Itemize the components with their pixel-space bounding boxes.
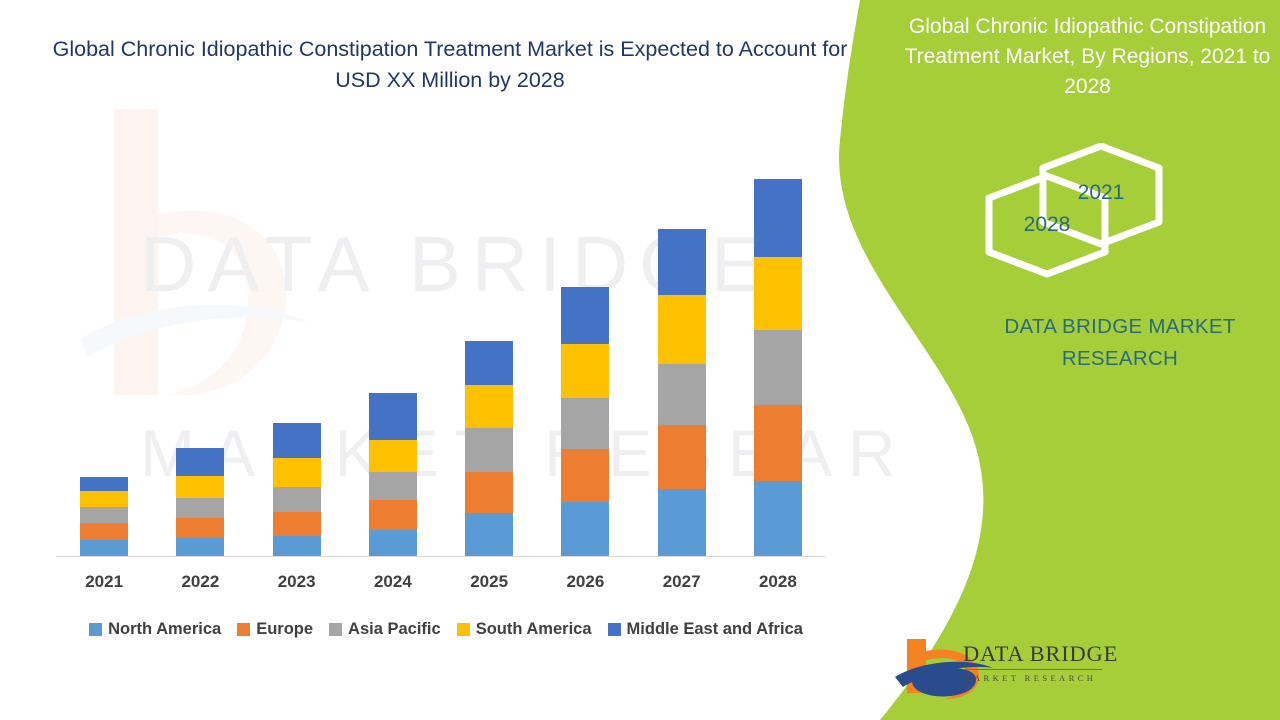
hexagon-outline-icon [985, 143, 1175, 278]
hexagon-label-2021: 2021 [1071, 181, 1131, 205]
bar-segment-middle-east-and-africa [176, 448, 224, 475]
bar-segment-north-america [176, 538, 224, 556]
chart-panel: DATA BRIDGE MARKET RESEARCH Global Chron… [0, 0, 900, 720]
logo-divider [964, 669, 1102, 670]
bar-segment-north-america [658, 489, 706, 556]
bar-segment-middle-east-and-africa [80, 477, 128, 491]
hexagon-group: 2021 2028 [985, 143, 1175, 278]
bar-segment-asia-pacific [369, 472, 417, 500]
bar-segment-south-america [273, 458, 321, 486]
bar-segment-europe [465, 472, 513, 514]
legend-swatch-icon [89, 623, 102, 636]
legend-swatch-icon [457, 623, 470, 636]
bar-segment-north-america [465, 513, 513, 556]
logo-wordmark: DATA BRIDGE MARKET RESEARCH [963, 641, 1113, 683]
legend-item-asia-pacific[interactable]: Asia Pacific [329, 620, 441, 639]
bar-segment-middle-east-and-africa [465, 341, 513, 385]
hexagon-label-2028: 2028 [1017, 213, 1077, 237]
bar-2028 [754, 179, 802, 556]
bar-segment-asia-pacific [465, 428, 513, 472]
bar-2025 [465, 341, 513, 556]
x-tick-2024: 2024 [363, 572, 423, 592]
x-axis-tick-labels: 20212022202320242025202620272028 [56, 572, 826, 598]
bar-segment-north-america [369, 530, 417, 556]
bar-segment-asia-pacific [176, 498, 224, 518]
legend-label: North America [108, 620, 221, 639]
bar-segment-asia-pacific [658, 364, 706, 425]
legend-label: Asia Pacific [348, 620, 441, 639]
stacked-bar-chart [56, 150, 826, 557]
legend-item-north-america[interactable]: North America [89, 620, 221, 639]
x-tick-2023: 2023 [267, 572, 327, 592]
legend-item-south-america[interactable]: South America [457, 620, 592, 639]
bar-segment-south-america [658, 295, 706, 364]
logo-name: DATA BRIDGE [963, 641, 1113, 667]
bar-segment-asia-pacific [561, 398, 609, 449]
brand-panel-title: Global Chronic Idiopathic Constipation T… [895, 12, 1280, 102]
bar-2026 [561, 287, 609, 556]
bar-2022 [176, 448, 224, 556]
bar-segment-europe [658, 425, 706, 489]
x-tick-2028: 2028 [748, 572, 808, 592]
bar-segment-europe [273, 512, 321, 535]
bar-segment-europe [80, 523, 128, 539]
bar-segment-middle-east-and-africa [369, 393, 417, 440]
x-tick-2021: 2021 [74, 572, 134, 592]
bar-segment-south-america [80, 491, 128, 507]
x-tick-2026: 2026 [555, 572, 615, 592]
bar-segment-middle-east-and-africa [658, 229, 706, 294]
legend-swatch-icon [329, 623, 342, 636]
bar-2027 [658, 229, 706, 556]
bar-segment-middle-east-and-africa [561, 287, 609, 344]
legend-swatch-icon [237, 623, 250, 636]
brand-name-text: DATA BRIDGE MARKET RESEARCH [960, 311, 1280, 375]
bar-segment-europe [561, 449, 609, 502]
bar-segment-europe [369, 500, 417, 530]
chart-baseline [56, 556, 826, 557]
bar-segment-north-america [80, 540, 128, 556]
x-tick-2025: 2025 [459, 572, 519, 592]
legend-swatch-icon [608, 623, 621, 636]
bar-segment-south-america [754, 257, 802, 330]
logo-subtitle: MARKET RESEARCH [963, 673, 1113, 683]
bar-segment-asia-pacific [273, 487, 321, 512]
bar-segment-asia-pacific [754, 330, 802, 405]
legend-label: Europe [256, 620, 313, 639]
bar-2024 [369, 393, 417, 556]
bar-segment-europe [754, 405, 802, 480]
bar-segment-north-america [754, 481, 802, 556]
bar-2021 [80, 477, 128, 556]
x-tick-2027: 2027 [652, 572, 712, 592]
bar-segment-north-america [561, 502, 609, 556]
x-tick-2022: 2022 [170, 572, 230, 592]
bar-segment-south-america [176, 476, 224, 498]
legend-label: Middle East and Africa [627, 620, 803, 639]
bar-segment-europe [176, 518, 224, 537]
bar-segment-south-america [465, 385, 513, 428]
bar-2023 [273, 423, 321, 556]
bar-segment-middle-east-and-africa [273, 423, 321, 459]
bar-segment-north-america [273, 536, 321, 556]
legend-label: South America [476, 620, 592, 639]
bar-segment-south-america [561, 344, 609, 398]
legend-item-europe[interactable]: Europe [237, 620, 313, 639]
bar-segment-middle-east-and-africa [754, 179, 802, 257]
chart-title: Global Chronic Idiopathic Constipation T… [40, 34, 860, 96]
legend-item-middle-east-and-africa[interactable]: Middle East and Africa [608, 620, 803, 639]
bar-segment-south-america [369, 440, 417, 472]
chart-legend: North AmericaEuropeAsia PacificSouth Ame… [56, 617, 836, 641]
bar-segment-asia-pacific [80, 507, 128, 523]
